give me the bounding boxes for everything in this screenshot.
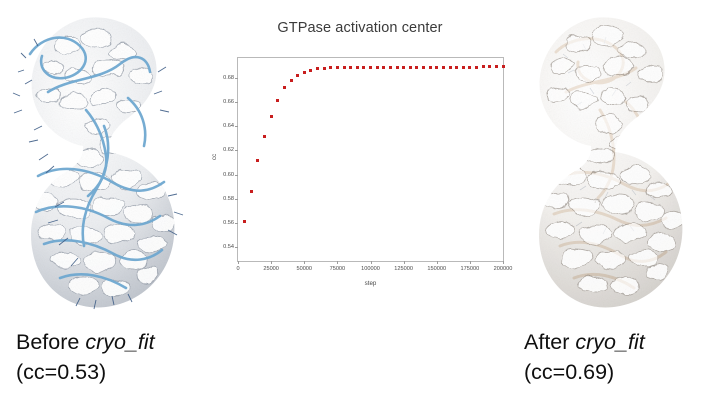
data-point bbox=[336, 66, 339, 69]
x-tick-label: 0 bbox=[236, 266, 239, 272]
x-tick-mark bbox=[271, 261, 272, 264]
y-tick-mark bbox=[235, 126, 238, 127]
data-point bbox=[382, 66, 385, 69]
caption-before-prefix: Before bbox=[16, 330, 85, 354]
data-point bbox=[502, 65, 505, 68]
data-point bbox=[296, 74, 299, 77]
data-point bbox=[409, 66, 412, 69]
plot-frame: 0.540.560.580.600.620.640.660.6802500050… bbox=[237, 57, 504, 262]
y-tick-label: 0.56 bbox=[223, 220, 234, 226]
data-point bbox=[468, 66, 471, 69]
data-point bbox=[462, 66, 465, 69]
y-tick-label: 0.66 bbox=[223, 99, 234, 105]
data-point bbox=[475, 66, 478, 69]
x-tick-label: 75000 bbox=[330, 266, 346, 272]
x-tick-mark bbox=[470, 261, 471, 264]
data-point bbox=[429, 66, 432, 69]
x-tick-mark bbox=[503, 261, 504, 264]
x-tick-label: 200000 bbox=[494, 266, 513, 272]
data-point bbox=[422, 66, 425, 69]
data-point bbox=[250, 190, 253, 193]
data-point bbox=[343, 66, 346, 69]
x-tick-label: 100000 bbox=[361, 266, 380, 272]
data-point bbox=[256, 159, 259, 162]
data-point bbox=[488, 65, 491, 68]
data-point bbox=[396, 66, 399, 69]
x-tick-mark bbox=[404, 261, 405, 264]
y-tick-mark bbox=[235, 175, 238, 176]
structure-render-before bbox=[8, 6, 208, 316]
caption-after-value: (cc=0.69) bbox=[524, 357, 645, 387]
density-surface-after bbox=[516, 6, 716, 316]
data-point bbox=[316, 67, 319, 70]
data-point bbox=[349, 66, 352, 69]
data-point bbox=[303, 71, 306, 74]
y-tick-label: 0.62 bbox=[223, 147, 234, 153]
data-point bbox=[369, 66, 372, 69]
data-point bbox=[415, 66, 418, 69]
y-tick-mark bbox=[235, 247, 238, 248]
x-tick-label: 125000 bbox=[394, 266, 413, 272]
data-point bbox=[283, 86, 286, 89]
y-tick-label: 0.68 bbox=[223, 75, 234, 81]
chart-title: GTPase activation center bbox=[205, 20, 515, 36]
x-tick-mark bbox=[304, 261, 305, 264]
data-point bbox=[442, 66, 445, 69]
y-tick-mark bbox=[235, 150, 238, 151]
caption-before: Before cryo_fit (cc=0.53) bbox=[16, 327, 155, 387]
data-point bbox=[290, 79, 293, 82]
data-point bbox=[329, 66, 332, 69]
x-tick-label: 150000 bbox=[427, 266, 446, 272]
x-axis-label: step bbox=[237, 280, 504, 287]
data-point bbox=[362, 66, 365, 69]
data-point bbox=[376, 66, 379, 69]
chart-figure: GTPase activation center 0.540.560.580.6… bbox=[205, 8, 515, 300]
molecular-density-map-before bbox=[8, 6, 208, 316]
data-point bbox=[449, 66, 452, 69]
data-point bbox=[276, 99, 279, 102]
y-tick-mark bbox=[235, 102, 238, 103]
caption-before-value: (cc=0.53) bbox=[16, 357, 155, 387]
data-point bbox=[495, 65, 498, 68]
data-point bbox=[263, 135, 266, 138]
x-tick-label: 25000 bbox=[263, 266, 279, 272]
y-axis-label: cc bbox=[211, 154, 218, 160]
caption-after-program: cryo_fit bbox=[575, 330, 644, 354]
x-tick-mark bbox=[371, 261, 372, 264]
data-point bbox=[435, 66, 438, 69]
y-tick-mark bbox=[235, 199, 238, 200]
y-tick-label: 0.60 bbox=[223, 172, 234, 178]
x-tick-label: 50000 bbox=[296, 266, 312, 272]
data-point bbox=[402, 66, 405, 69]
plot-area: 0.540.560.580.600.620.640.660.6802500050… bbox=[238, 58, 503, 261]
x-tick-mark bbox=[337, 261, 338, 264]
structure-render-after bbox=[516, 6, 716, 316]
caption-after: After cryo_fit (cc=0.69) bbox=[524, 327, 645, 387]
caption-before-program: cryo_fit bbox=[85, 330, 154, 354]
caption-after-prefix: After bbox=[524, 330, 575, 354]
x-tick-mark bbox=[238, 261, 239, 264]
data-point bbox=[323, 67, 326, 70]
data-point bbox=[455, 66, 458, 69]
data-point bbox=[482, 65, 485, 68]
data-point bbox=[309, 69, 312, 72]
x-tick-mark bbox=[437, 261, 438, 264]
data-point bbox=[389, 66, 392, 69]
y-tick-mark bbox=[235, 223, 238, 224]
y-tick-mark bbox=[235, 78, 238, 79]
data-point bbox=[270, 115, 273, 118]
y-tick-label: 0.64 bbox=[223, 123, 234, 129]
y-tick-label: 0.58 bbox=[223, 196, 234, 202]
data-point bbox=[356, 66, 359, 69]
data-point bbox=[243, 220, 246, 223]
x-tick-label: 175000 bbox=[461, 266, 480, 272]
y-tick-label: 0.54 bbox=[223, 244, 234, 250]
molecular-density-map-after bbox=[516, 6, 716, 316]
